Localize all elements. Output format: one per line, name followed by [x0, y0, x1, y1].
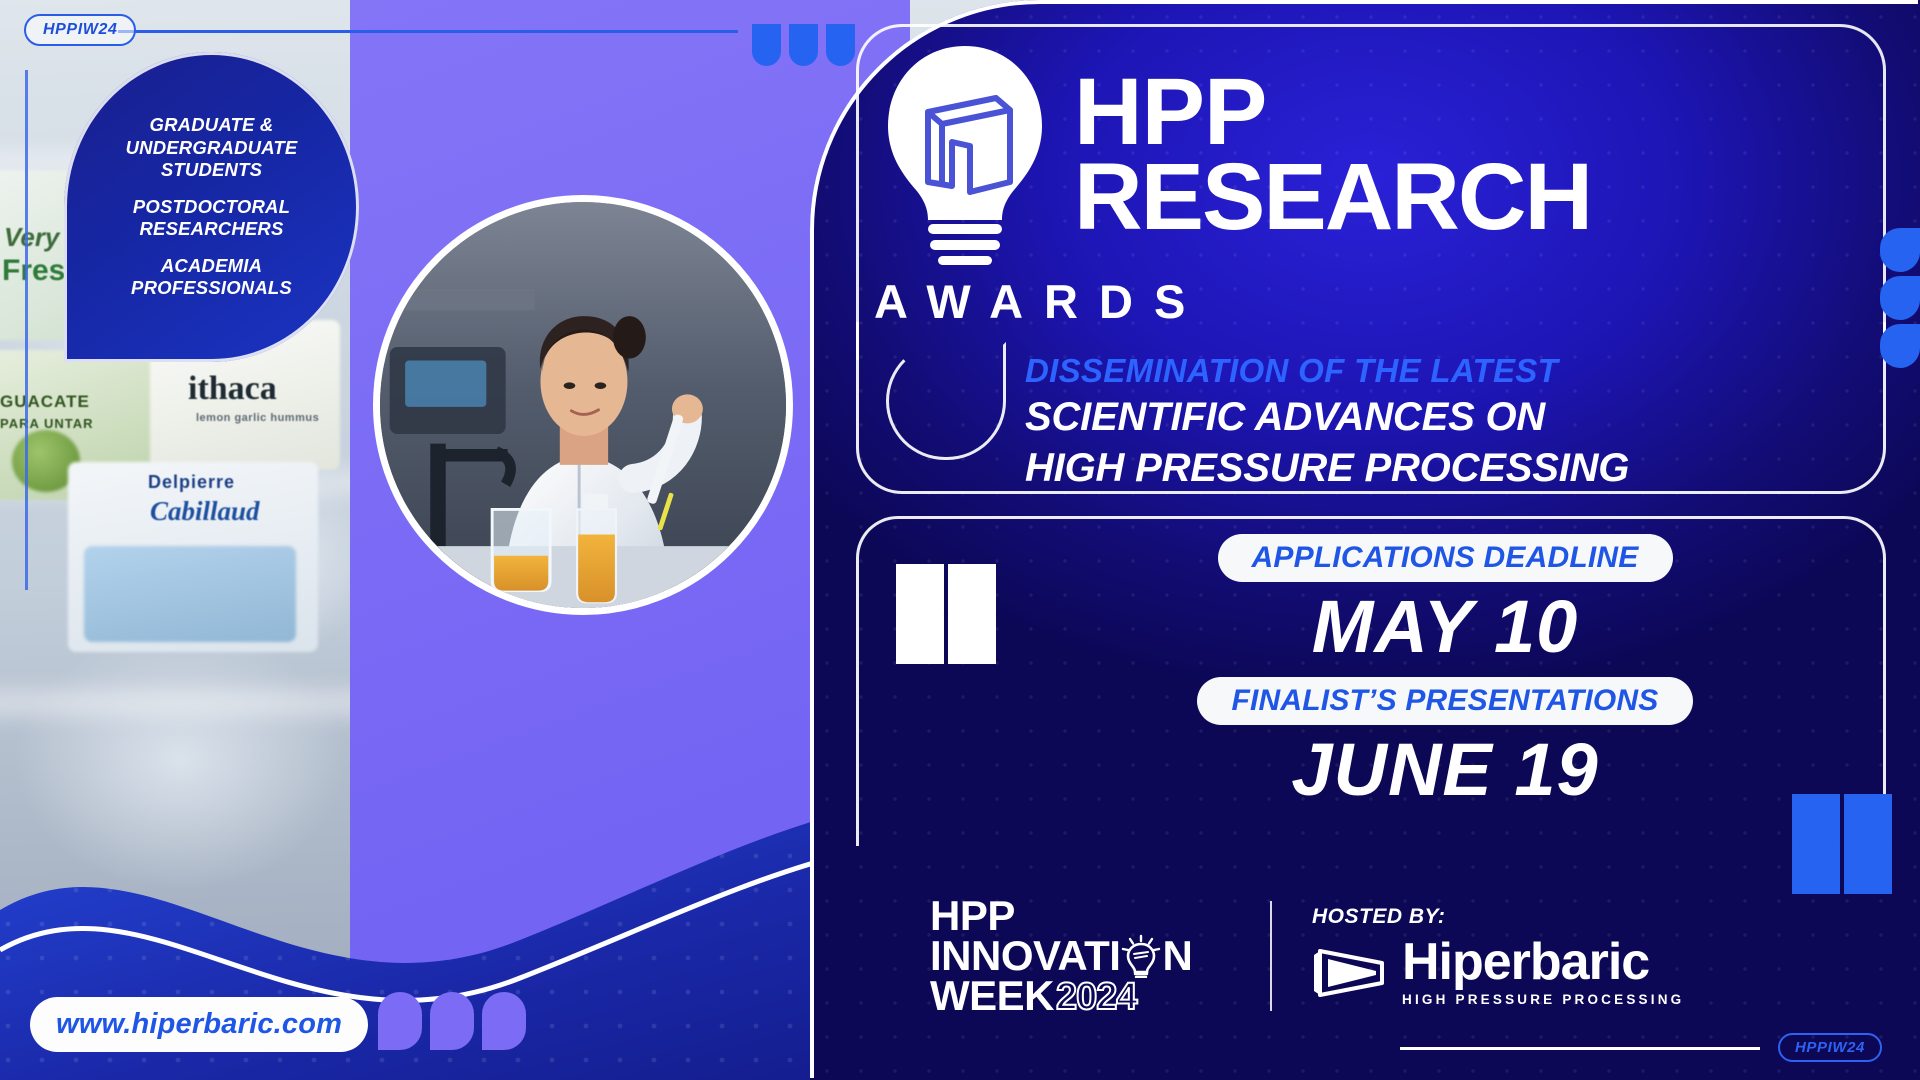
- deadline-date-applications: MAY 10: [1030, 584, 1860, 669]
- researcher-photo: [373, 195, 793, 615]
- four-petal-flower-icon: [892, 560, 1000, 668]
- iw-line-2-a: INNOVATI: [930, 938, 1120, 974]
- leaf-shape: [1880, 228, 1920, 272]
- innovation-week-logo: HPP INNOVATI N WEEK: [930, 898, 1230, 1014]
- dome-shape: [789, 24, 818, 66]
- title-line-2: RESEARCH: [1074, 154, 1870, 241]
- hosted-by-label: HOSTED BY:: [1312, 905, 1684, 929]
- hiperbaric-wordmark: Hiperbaric: [1402, 939, 1684, 986]
- deadline-month: JUNE: [1291, 728, 1492, 811]
- deadline-label-applications: APPLICATIONS DEADLINE: [1218, 534, 1673, 582]
- lightbulb-book-icon: [870, 36, 1060, 266]
- audience-group: Postdoctoral Researchers: [84, 196, 339, 241]
- deadline-day: 10: [1494, 585, 1578, 668]
- dome-shape: [752, 24, 781, 66]
- pressure-vessel-icon: [1312, 945, 1388, 1001]
- dome-shape: [378, 992, 422, 1050]
- dates-block: APPLICATIONS DEADLINE MAY 10 FINALIST’S …: [1030, 534, 1860, 820]
- iw-year: 2024: [1056, 981, 1137, 1014]
- subtitle-eyebrow: DISSEMINATION OF THE LATEST: [1025, 352, 1865, 390]
- subtitle-notch-shape: [886, 342, 1006, 460]
- event-badge-bottom[interactable]: HPPIW24: [1778, 1033, 1882, 1062]
- website-url[interactable]: www.hiperbaric.com: [30, 997, 368, 1052]
- iw-line-2-b: N: [1162, 938, 1192, 974]
- event-badge-top[interactable]: HPPIW24: [24, 14, 136, 46]
- deadline-day: 19: [1514, 728, 1598, 811]
- footer-logos: HPP INNOVATI N WEEK: [930, 886, 1920, 1026]
- four-petal-flower-icon-right: [1788, 790, 1896, 898]
- dome-shape: [430, 992, 474, 1050]
- deadline-label-finalists: FINALIST’S PRESENTATIONS: [1197, 677, 1692, 725]
- top-rule: [118, 30, 738, 33]
- left-vertical-rule: [25, 70, 28, 590]
- deadline-date-finalists: JUNE 19: [1030, 727, 1860, 812]
- title-line-3: AWARDS: [870, 274, 1870, 329]
- poster-canvas: Very Fresh GUACATE PARA UNTAR ithaca lem…: [0, 0, 1920, 1080]
- logo-divider: [1270, 901, 1272, 1011]
- title-line-1: HPP: [1074, 71, 1870, 155]
- leaf-shape: [1880, 324, 1920, 368]
- subtitle-block: DISSEMINATION OF THE LATEST SCIENTIFIC A…: [1025, 352, 1865, 492]
- audience-bubble: Graduate & Undergraduate Students Postdo…: [64, 52, 359, 362]
- bottom-rule: [1400, 1047, 1760, 1050]
- lightbulb-icon: [1121, 934, 1161, 978]
- host-block: HOSTED BY: Hiperbaric HIGH PRESSURE PROC…: [1312, 905, 1684, 1007]
- audience-group: Academia Professionals: [84, 255, 339, 300]
- iw-line-3: WEEK: [930, 978, 1054, 1014]
- subtitle-line-2: HIGH PRESSURE PROCESSING: [1025, 445, 1865, 492]
- deadline-month: MAY: [1312, 585, 1473, 668]
- hiperbaric-tagline: HIGH PRESSURE PROCESSING: [1402, 992, 1684, 1007]
- awards-logo-lockup: HPP RESEARCH AWARDS: [870, 40, 1870, 329]
- dome-decoration-bottom: [378, 992, 526, 1050]
- subtitle-line-1: SCIENTIFIC ADVANCES ON: [1025, 394, 1865, 441]
- lab-scene-illustration: [380, 202, 786, 608]
- dome-shape: [482, 992, 526, 1050]
- iw-line-1: HPP: [930, 898, 1230, 934]
- leaf-decoration-right: [1880, 228, 1920, 368]
- dome-decoration-top: [752, 24, 855, 66]
- leaf-shape: [1880, 276, 1920, 320]
- audience-group: Graduate & Undergraduate Students: [84, 114, 339, 182]
- dome-shape: [826, 24, 855, 66]
